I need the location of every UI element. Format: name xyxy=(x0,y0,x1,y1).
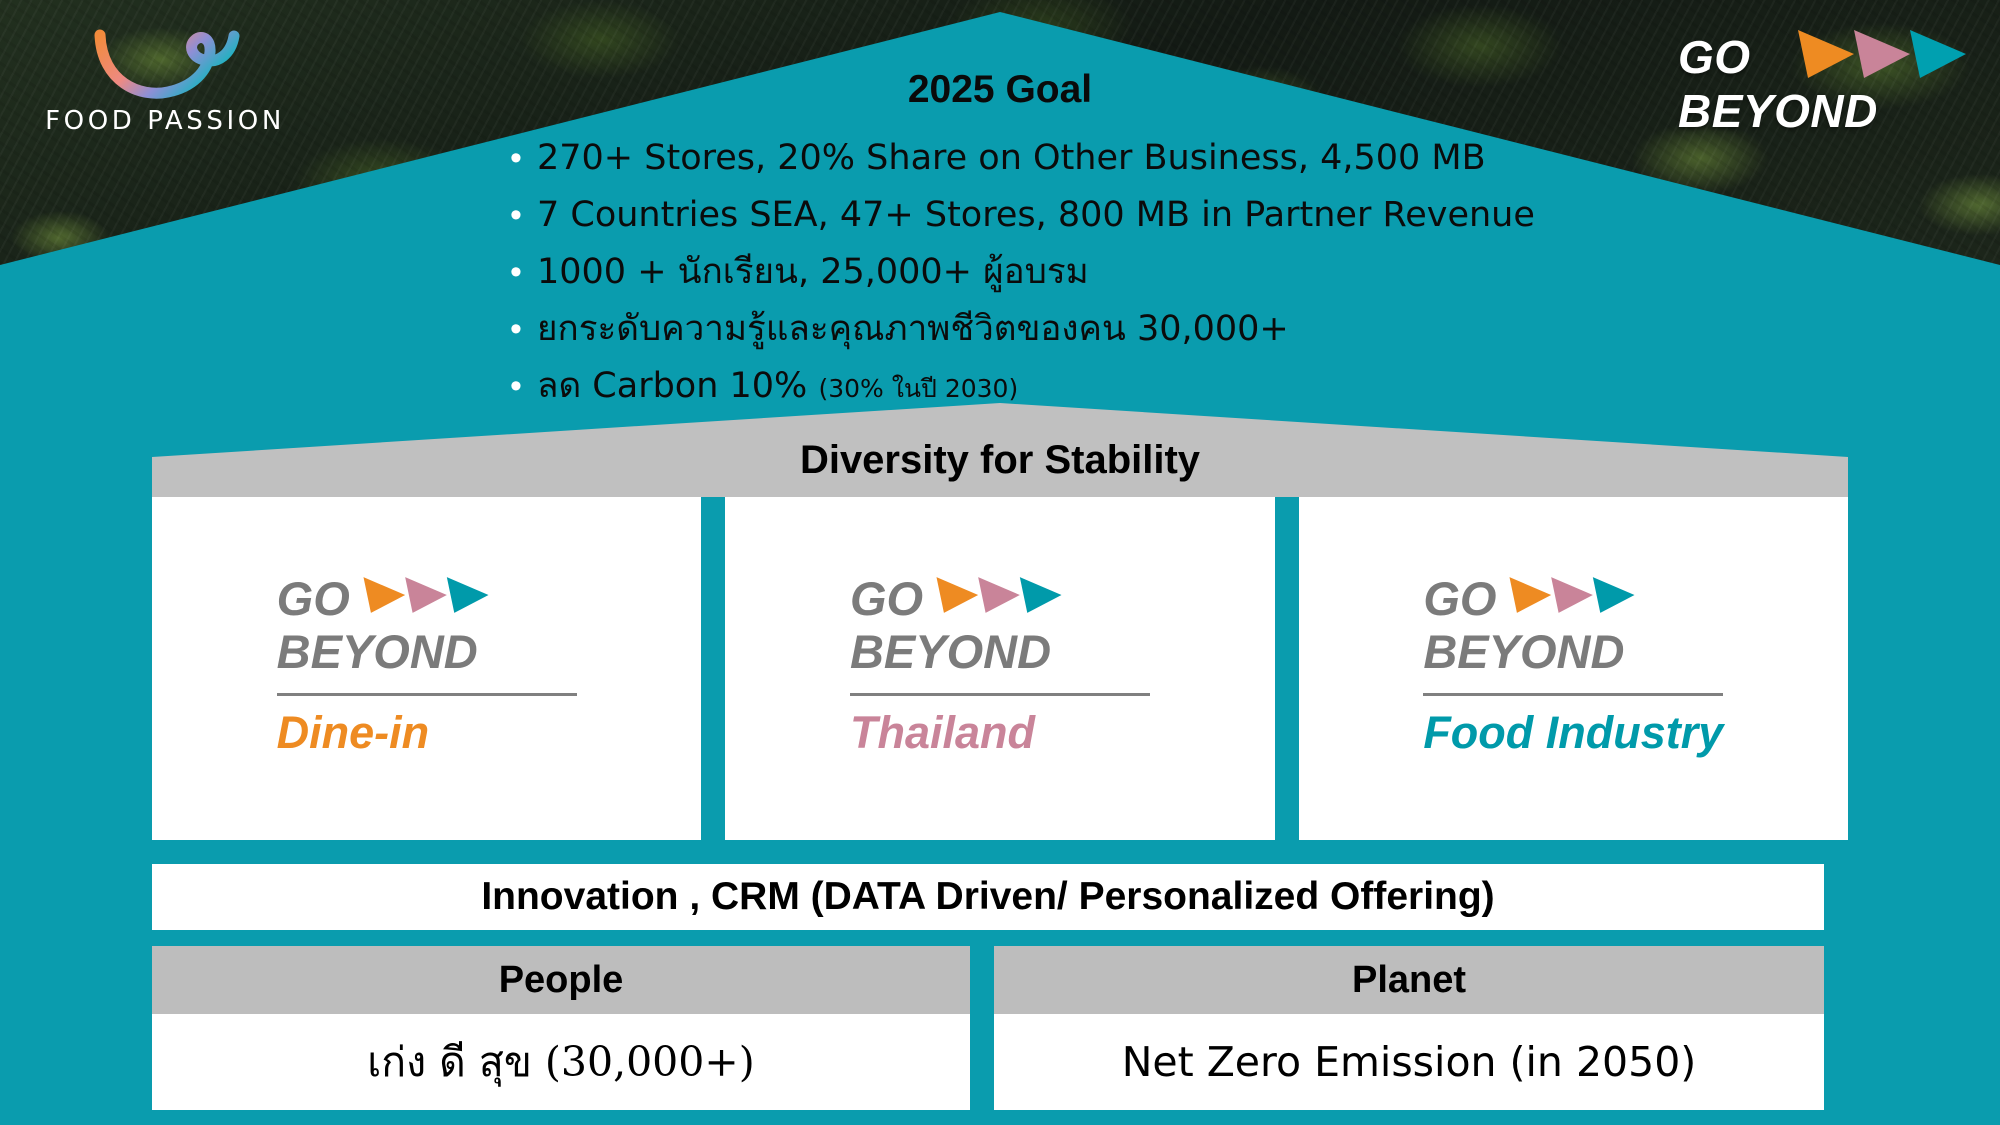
arrow-pink-icon xyxy=(1552,577,1594,613)
arrow-teal-icon xyxy=(1020,577,1062,613)
card-arrows xyxy=(362,575,490,615)
brand-card-dine-in[interactable]: GO BEYOND Dine-in xyxy=(152,497,701,840)
brand-card-food-industry[interactable]: GO BEYOND Food Industry xyxy=(1299,497,1848,840)
goal-list-item: • 1000 + นักเรียน, 25,000+ ผู้อบรม xyxy=(495,250,1895,297)
pillar-people: People เก่ง ดี สุข (30,000+) xyxy=(152,946,970,1110)
card-beyond-text: BEYOND xyxy=(850,623,1150,681)
goal-list-item: • 270+ Stores, 20% Share on Other Busine… xyxy=(495,136,1895,183)
pillars-row: People เก่ง ดี สุข (30,000+) Planet Net … xyxy=(152,946,1824,1110)
card-logo-row: GO xyxy=(1423,575,1723,623)
card-logo-row: GO xyxy=(277,575,577,623)
brand-cards-row: GO BEYOND Dine-in GO xyxy=(152,497,1848,840)
card-divider xyxy=(1423,693,1723,696)
card-go-text: GO xyxy=(850,575,923,623)
brand-card-thailand[interactable]: GO BEYOND Thailand xyxy=(725,497,1274,840)
innovation-crm-band: Innovation , CRM (DATA Driven/ Personali… xyxy=(152,864,1824,930)
card-go-text: GO xyxy=(1423,575,1496,623)
goal-item-text: 1000 + นักเรียน, 25,000+ ผู้อบรม xyxy=(537,250,1089,297)
diversity-roof-label: Diversity for Stability xyxy=(152,438,1848,483)
card-subtitle: Thailand xyxy=(850,704,1150,762)
arrow-orange-icon xyxy=(363,577,405,613)
goal-item-text: 270+ Stores, 20% Share on Other Business… xyxy=(537,136,1486,183)
bullet-glyph: • xyxy=(495,364,537,408)
card-go-text: GO xyxy=(277,575,350,623)
arrow-pink-icon xyxy=(405,577,447,613)
pillar-people-header: People xyxy=(152,946,970,1014)
goal-list-item: • 7 Countries SEA, 47+ Stores, 800 MB in… xyxy=(495,193,1895,240)
pillar-people-body: เก่ง ดี สุข (30,000+) xyxy=(152,1014,970,1110)
arrow-orange-icon xyxy=(937,577,979,613)
goal-item-text: 7 Countries SEA, 47+ Stores, 800 MB in P… xyxy=(537,193,1535,240)
innovation-crm-label: Innovation , CRM (DATA Driven/ Personali… xyxy=(481,875,1494,919)
goal-title: 2025 Goal xyxy=(0,68,2000,112)
card-arrows xyxy=(1508,575,1636,615)
bullet-glyph: • xyxy=(495,136,537,180)
card-beyond-text: BEYOND xyxy=(1423,623,1723,681)
bullet-glyph: • xyxy=(495,193,537,237)
bullet-glyph: • xyxy=(495,307,537,351)
goal-list-item: • ลด Carbon 10% (30% ในปี 2030) xyxy=(495,364,1895,411)
pillar-planet-header: Planet xyxy=(994,946,1824,1014)
bullet-glyph: • xyxy=(495,250,537,294)
arrow-orange-icon xyxy=(1510,577,1552,613)
goal-bullet-list: • 270+ Stores, 20% Share on Other Busine… xyxy=(495,136,1895,421)
arrow-pink-icon xyxy=(978,577,1020,613)
card-logo-row: GO xyxy=(850,575,1150,623)
card-divider xyxy=(277,693,577,696)
card-divider xyxy=(850,693,1150,696)
goal-list-item: • ยกระดับความรู้และคุณภาพชีวิตของคน 30,0… xyxy=(495,307,1895,354)
pillar-planet: Planet Net Zero Emission (in 2050) xyxy=(994,946,1824,1110)
card-beyond-text: BEYOND xyxy=(277,623,577,681)
pillar-planet-body: Net Zero Emission (in 2050) xyxy=(994,1014,1824,1110)
arrow-teal-icon xyxy=(1593,577,1635,613)
slide-root: FOOD PASSION GO BEYOND 2025 Goal • 270+ … xyxy=(0,0,2000,1125)
card-subtitle: Dine-in xyxy=(277,704,577,762)
card-subtitle: Food Industry xyxy=(1423,704,1723,762)
arrow-teal-icon xyxy=(447,577,489,613)
goal-item-text: ลด Carbon 10% (30% ในปี 2030) xyxy=(537,364,1018,411)
card-arrows xyxy=(935,575,1063,615)
goal-item-text: ยกระดับความรู้และคุณภาพชีวิตของคน 30,000… xyxy=(537,307,1289,354)
